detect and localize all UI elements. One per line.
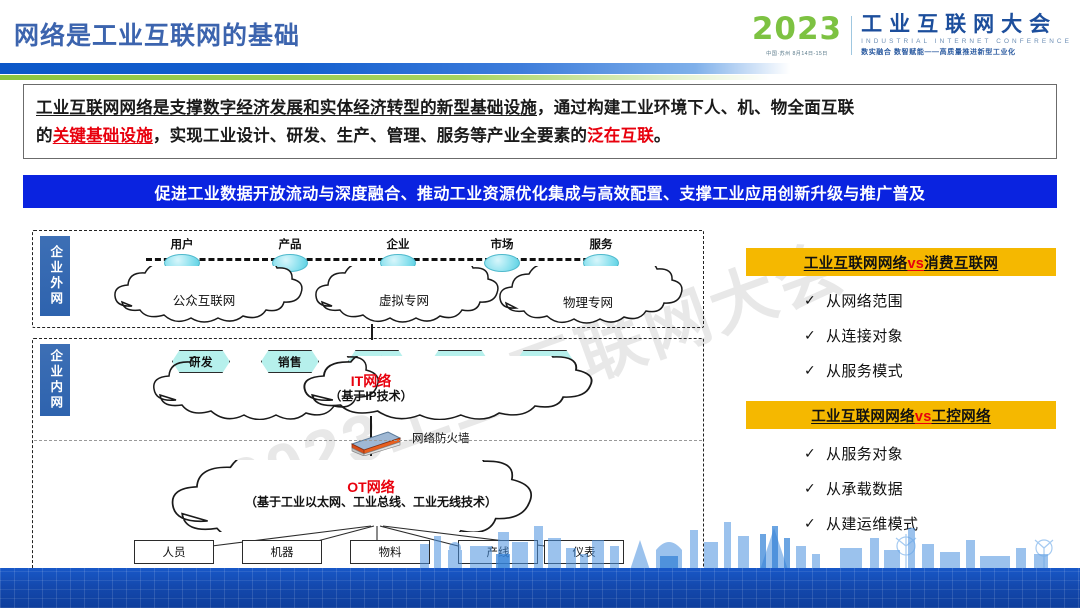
check-icon: ✓ [804, 362, 826, 379]
statement-line2-b: ，实现工业设计、研发、生产、管理、服务等产业全要素的 [153, 127, 587, 145]
statement-keyword-infrastructure: 关键基础设施 [53, 127, 153, 145]
card2-head-vs: vs [915, 409, 932, 425]
header-divider-blue [0, 63, 790, 74]
slide-root: 网络是工业互联网的基础 2023 中国·苏州 8月14日-15日 工业互联网大会… [0, 0, 1080, 608]
card-header-consumer-internet-text: 工业互联网网络vs消费互联网 [804, 252, 998, 273]
check-icon: ✓ [804, 292, 826, 309]
footer-band [0, 568, 1080, 608]
card2-bullet-0: ✓ 从服务对象 [804, 443, 1056, 464]
ot-network-subtitle: （基于工业以太网、工业总线、工业无线技术） [206, 495, 536, 510]
check-icon: ✓ [804, 480, 826, 497]
logo-tagline: 数实融合 数智赋能——高质量推进新型工业化 [861, 47, 1072, 57]
card2-head-left: 工业互联网网络 [811, 409, 915, 425]
cloud-physical-private-network-label: 物理专网 [498, 292, 678, 311]
card1-bullet-0-label: 从网络范围 [826, 290, 903, 311]
card1-bullet-1: ✓ 从连接对象 [804, 325, 1056, 346]
comparison-panel: 工业互联网网络vs消费互联网 ✓ 从网络范围 ✓ 从连接对象 ✓ 从服务模式 工… [746, 248, 1056, 548]
statement-line2-a: 的 [36, 127, 53, 145]
cloud-virtual-private-network-label: 虚拟专网 [314, 290, 494, 309]
logo-separator [851, 16, 852, 55]
highlight-banner-text: 促进工业数据开放流动与深度融合、推动工业资源优化集成与高效配置、支撑工业应用创新… [155, 180, 926, 204]
logo-title-cn: 工业互联网大会 [861, 14, 1072, 36]
cloud-public-internet-label: 公众互联网 [114, 290, 294, 309]
statement-line1-rest: ，通过构建工业环境下人、机、物全面互联 [537, 99, 854, 117]
it-network-title: IT网络 [291, 374, 451, 389]
card1-bullet-2: ✓ 从服务模式 [804, 360, 1056, 381]
card1-bullet-list: ✓ 从网络范围 ✓ 从连接对象 ✓ 从服务模式 [746, 276, 1056, 381]
node-product-label: 产品 [279, 236, 302, 252]
node-user-label: 用户 [171, 236, 194, 252]
card2-head-right: 工控网络 [932, 409, 991, 425]
it-network-subtitle: （基于IP技术） [291, 389, 451, 403]
logo-text-block: 工业互联网大会 INDUSTRIAL INTERNET CONFERENCE 数… [861, 14, 1072, 57]
node-market-label: 市场 [491, 236, 514, 252]
card1-head-vs: vs [907, 256, 924, 272]
statement-line-2: 的关键基础设施，实现工业设计、研发、生产、管理、服务等产业全要素的泛在互联。 [36, 122, 1044, 150]
footer-grid-pattern [0, 568, 1080, 608]
check-icon: ✓ [804, 327, 826, 344]
statement-line-1: 工业互联网网络是支撑数字经济发展和实体经济转型的新型基础设施，通过构建工业环境下… [36, 94, 1044, 122]
statement-line1-underlined: 工业互联网网络是支撑数字经济发展和实体经济转型的新型基础设施 [36, 99, 537, 117]
logo-date: 中国·苏州 8月14日-15日 [766, 50, 828, 57]
statement-keyword-ubiquitous: 泛在互联 [587, 127, 654, 145]
card1-head-right: 消费互联网 [924, 256, 998, 272]
statement-line2-c: 。 [654, 127, 671, 145]
outer-inner-connector [371, 324, 373, 340]
card-header-industrial-control-network-text: 工业互联网网络vs工控网络 [811, 405, 991, 426]
zone-label-external: 企业外网 [40, 236, 70, 316]
card2-bullet-0-label: 从服务对象 [826, 443, 903, 464]
ot-network-label: OT网络 （基于工业以太网、工业总线、工业无线技术） [206, 480, 536, 510]
card1-bullet-0: ✓ 从网络范围 [804, 290, 1056, 311]
card2-bullet-list: ✓ 从服务对象 ✓ 从承载数据 ✓ 从建运维模式 [746, 429, 1056, 534]
logo-year-block: 2023 中国·苏州 8月14日-15日 [752, 14, 851, 57]
highlight-banner: 促进工业数据开放流动与深度融合、推动工业资源优化集成与高效配置、支撑工业应用创新… [23, 175, 1057, 208]
card2-bullet-1-label: 从承载数据 [826, 478, 903, 499]
inner-zone-divider [34, 440, 702, 441]
it-network-label: IT网络 （基于IP技术） [291, 374, 451, 404]
ot-network-title: OT网络 [206, 480, 536, 495]
card2-bullet-1: ✓ 从承载数据 [804, 478, 1056, 499]
node-enterprise-label: 企业 [387, 236, 410, 252]
page-title: 网络是工业互联网的基础 [14, 16, 300, 52]
node-service-label: 服务 [590, 236, 613, 252]
card1-head-left: 工业互联网网络 [804, 256, 908, 272]
firewall-icon [342, 428, 404, 456]
header-divider-green [0, 75, 770, 80]
skyline-decoration [0, 520, 1080, 570]
statement-box: 工业互联网网络是支撑数字经济发展和实体经济转型的新型基础设施，通过构建工业环境下… [23, 84, 1057, 159]
card1-bullet-1-label: 从连接对象 [826, 325, 903, 346]
card-header-consumer-internet: 工业互联网网络vs消费互联网 [746, 248, 1056, 276]
card-header-industrial-control-network: 工业互联网网络vs工控网络 [746, 401, 1056, 429]
logo-title-en: INDUSTRIAL INTERNET CONFERENCE [861, 38, 1072, 45]
skyline-svg [0, 520, 1080, 570]
logo-year: 2023 [752, 14, 842, 45]
card1-bullet-2-label: 从服务模式 [826, 360, 903, 381]
zone-label-internal: 企业内网 [40, 344, 70, 416]
conference-logo: 2023 中国·苏州 8月14日-15日 工业互联网大会 INDUSTRIAL … [752, 14, 1072, 57]
check-icon: ✓ [804, 445, 826, 462]
firewall-label: 网络防火墙 [412, 430, 470, 446]
